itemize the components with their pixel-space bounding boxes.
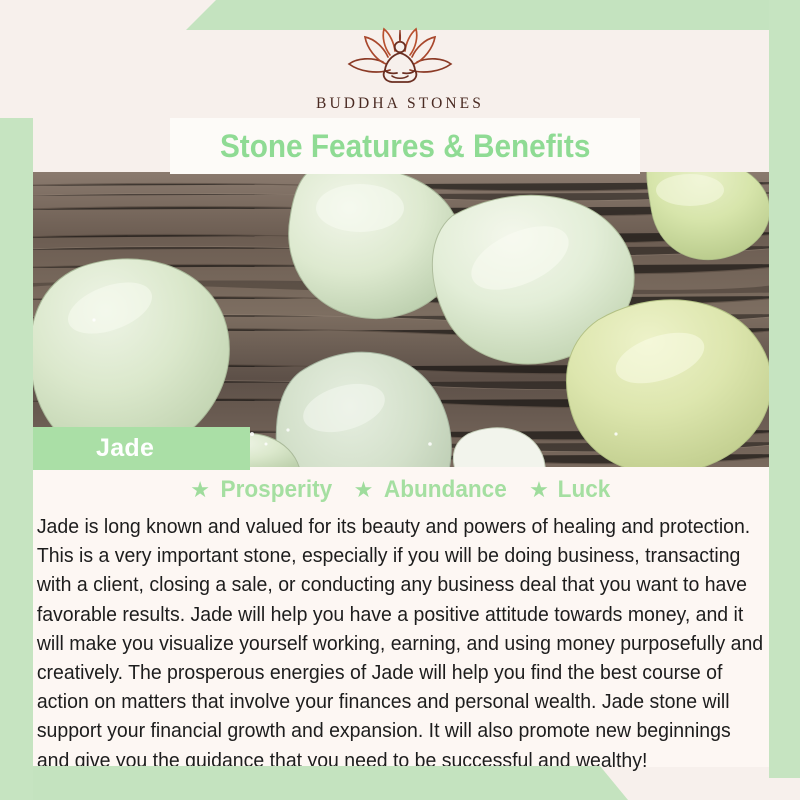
star-icon: ★ <box>529 479 549 501</box>
stone-description: Jade is long known and valued for its be… <box>33 507 772 776</box>
page-title: Stone Features & Benefits <box>220 128 590 165</box>
benefit-label: Prosperity <box>220 476 332 504</box>
stone-photo <box>0 172 800 467</box>
benefit-item: ★ Prosperity <box>190 476 335 504</box>
benefits-row: ★ Prosperity ★ Abundance ★ Luck <box>33 467 769 507</box>
benefit-label: Luck <box>557 476 610 504</box>
stone-name-banner: Jade <box>33 427 250 470</box>
benefit-label: Abundance <box>384 476 507 504</box>
benefit-item: ★ Luck <box>529 476 612 504</box>
lotus-meditation-icon <box>334 24 466 86</box>
content-panel: ★ Prosperity ★ Abundance ★ Luck Jade is … <box>33 467 769 767</box>
brand-name: BUDDHA STONES <box>316 95 484 113</box>
stone-name: Jade <box>33 434 154 463</box>
frame-left-accent <box>0 118 33 800</box>
star-icon: ★ <box>190 479 210 501</box>
star-icon: ★ <box>354 479 374 501</box>
frame-right-accent <box>769 0 800 778</box>
benefit-item: ★ Abundance <box>354 476 511 504</box>
brand-header: BUDDHA STONES <box>0 0 800 122</box>
title-banner: Stone Features & Benefits <box>170 118 640 174</box>
infographic-page: BUDDHA STONES Stone Features & Benefits <box>0 0 800 800</box>
